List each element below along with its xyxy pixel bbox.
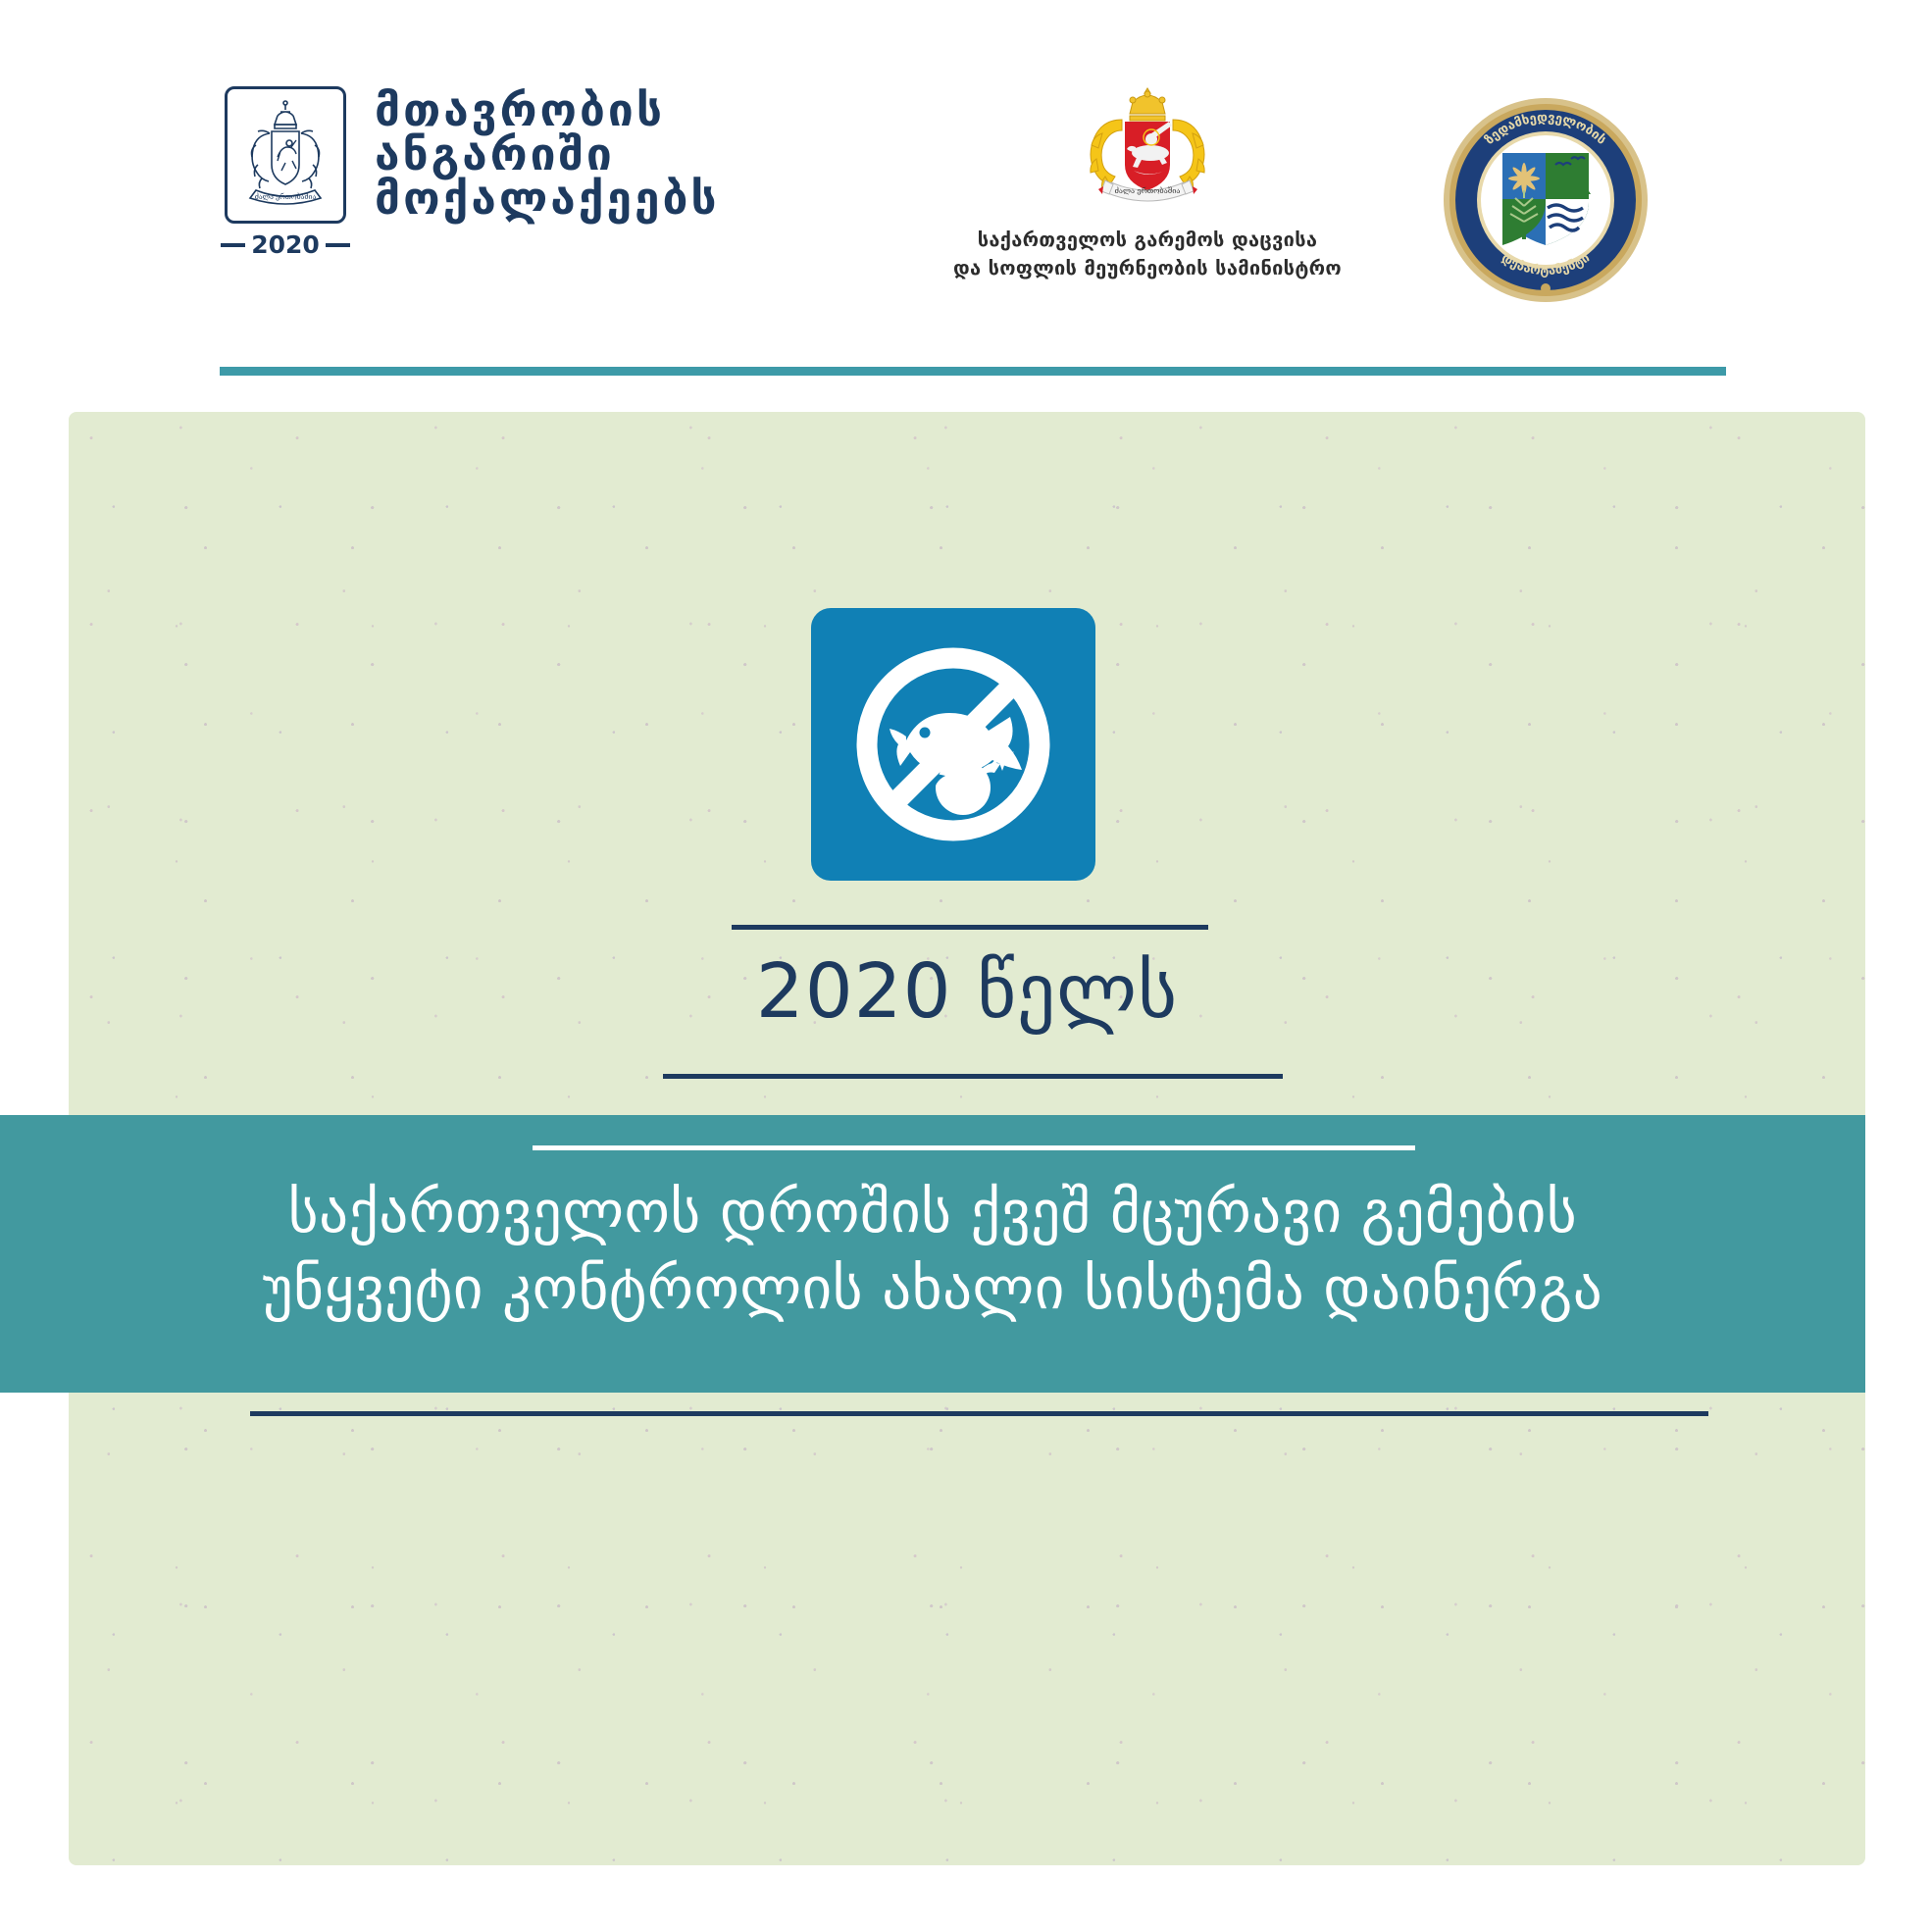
page-header: ძალა ერთობაშია 2020 მთავრობის ანგარიში მ… (0, 0, 1932, 373)
gov-wordmark-line-1: მთავრობის (375, 88, 720, 132)
headline-rule-below (250, 1411, 1708, 1416)
gov-logo-wordmark: მთავრობის ანგარიში მოქალაქეებს (375, 86, 720, 221)
gov-logo-year-row: 2020 (221, 232, 350, 257)
headline-rule-above (533, 1145, 1415, 1150)
government-report-logo: ძალა ერთობაშია 2020 მთავრობის ანგარიში მ… (218, 86, 720, 257)
ministry-caption-line-2: და სოფლის მეურნეობის სამინისტრო (941, 254, 1353, 282)
gov-wordmark-line-3: მოქალაქეებს (375, 177, 720, 221)
georgia-coat-of-arms-icon: ძალა ერთობაშია (225, 86, 346, 224)
year-label: 2020 წელს (69, 953, 1865, 1033)
year-rule-above (732, 925, 1208, 930)
no-dynamite-fishing-icon (811, 608, 1095, 881)
year-rule-below (663, 1074, 1283, 1079)
gov-crest-wrap: ძალა ერთობაშია 2020 (218, 86, 353, 257)
headline-text: საქართველოს დროშის ქვეშ მცურავი გემების … (0, 1174, 1865, 1328)
headline-line-1: საქართველოს დროშის ქვეშ მცურავი გემების (0, 1174, 1865, 1250)
year-rule-right (326, 243, 350, 247)
ministry-caption: საქართველოს გარემოს დაცვისა და სოფლის მე… (941, 226, 1353, 282)
headline-line-2: უნყვეტი კონტროლის ახალი სისტემა დაინერგა (0, 1250, 1865, 1327)
svg-text:ძალა ერთობაშია: ძალა ერთობაშია (255, 193, 317, 201)
svg-text:ძალა ერთობაშია: ძალა ერთობაშია (1115, 186, 1181, 195)
environmental-supervision-seal-icon: ზედამხედველობის დეპარტამენტი (1442, 96, 1650, 304)
header-divider (220, 367, 1726, 376)
headline-banner: საქართველოს დროშის ქვეშ მცურავი გემების … (0, 1115, 1865, 1393)
georgia-state-coat-of-arms-icon: ძალა ერთობაშია (941, 76, 1353, 214)
gov-wordmark-line-2: ანგარიში (375, 132, 720, 177)
ministry-caption-line-1: საქართველოს გარემოს დაცვისა (941, 226, 1353, 254)
gov-logo-year: 2020 (245, 232, 326, 257)
year-rule-left (221, 243, 245, 247)
ministry-block: ძალა ერთობაშია საქართველოს გარემოს დაცვი… (941, 76, 1353, 282)
